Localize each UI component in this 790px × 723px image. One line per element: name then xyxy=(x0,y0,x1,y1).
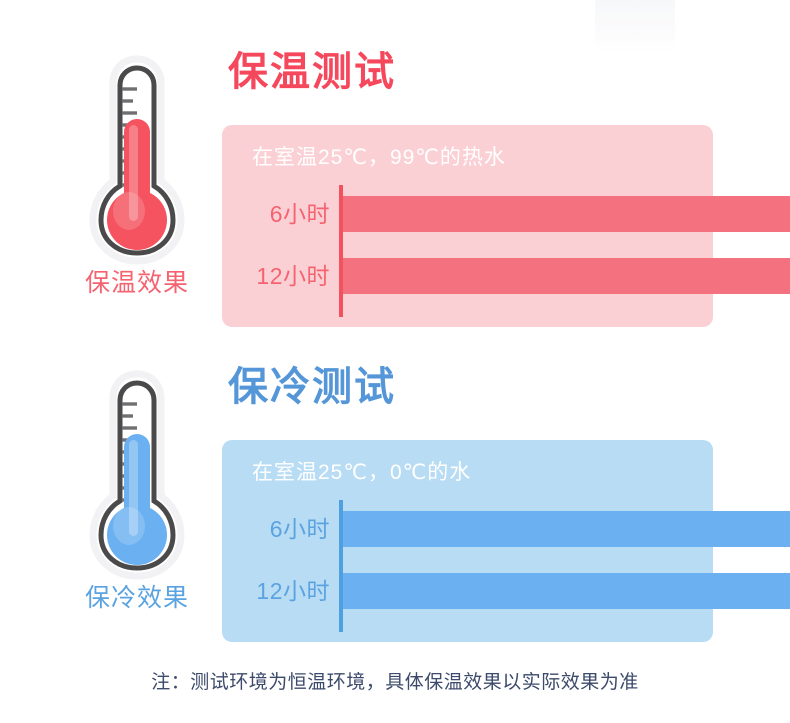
chart-hot: 6小时 60℃ 12小时 50℃ xyxy=(222,185,713,317)
panel-cold-caption: 在室温25℃，0℃的水 xyxy=(252,462,471,483)
chart-cold-bar-row-1: 12小时 19℃ xyxy=(222,573,713,609)
chart-cold: 6小时 11℃ 12小时 19℃ xyxy=(222,500,713,632)
section-hot-title: 保温测试 xyxy=(228,52,396,92)
infographic-page: 保温效果 保温测试 在室温25℃，99℃的热水 6小时 60℃ 12小时 50℃ xyxy=(0,0,790,723)
section-hot-test: 保温效果 保温测试 在室温25℃，99℃的热水 6小时 60℃ 12小时 50℃ xyxy=(0,40,790,340)
chart-cold-bar-row-0: 6小时 11℃ xyxy=(222,511,713,547)
chart-hot-bar-0 xyxy=(343,196,790,232)
chart-hot-category-1: 12小时 xyxy=(256,258,330,294)
section-cold-test: 保冷效果 保冷测试 在室温25℃，0℃的水 6小时 11℃ 12小时 19℃ xyxy=(0,355,790,655)
thermometer-hot-label: 保温效果 xyxy=(62,271,212,296)
panel-hot-chart: 在室温25℃，99℃的热水 6小时 60℃ 12小时 50℃ xyxy=(222,125,713,327)
thermometer-cold-label: 保冷效果 xyxy=(62,586,212,611)
footnote-text: 注：测试环境为恒温环境，具体保温效果以实际效果为准 xyxy=(0,673,790,692)
chart-cold-category-1: 12小时 xyxy=(256,573,330,609)
thermometer-cold-icon xyxy=(82,370,192,580)
panel-hot-caption: 在室温25℃，99℃的热水 xyxy=(252,147,506,168)
thermometer-hot-group: 保温效果 xyxy=(62,55,212,296)
chart-cold-bar-1 xyxy=(343,573,790,609)
chart-hot-category-0: 6小时 xyxy=(270,196,330,232)
chart-cold-category-0: 6小时 xyxy=(270,511,330,547)
thermometer-hot-icon xyxy=(82,55,192,265)
chart-hot-bar-row-1: 12小时 50℃ xyxy=(222,258,713,294)
chart-hot-bar-1 xyxy=(343,258,790,294)
chart-hot-bar-row-0: 6小时 60℃ xyxy=(222,196,713,232)
panel-cold-chart: 在室温25℃，0℃的水 6小时 11℃ 12小时 19℃ xyxy=(222,440,713,642)
chart-cold-bar-0 xyxy=(343,511,790,547)
section-cold-title: 保冷测试 xyxy=(228,367,396,407)
thermometer-cold-group: 保冷效果 xyxy=(62,370,212,611)
